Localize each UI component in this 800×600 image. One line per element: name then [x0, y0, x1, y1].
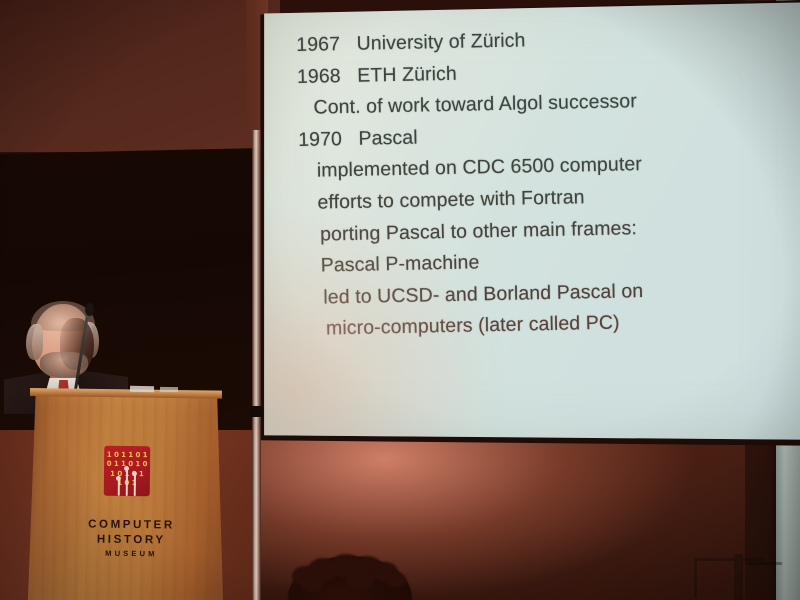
chm-logo-circuit-trace-1 [117, 478, 120, 496]
chm-wordmark: COMPUTER HISTORY MUSEUM [72, 517, 189, 560]
slide-text-block: 1967 University of Zürich 1968 ETH Züric… [296, 21, 742, 346]
chm-logo-bit-2-1: 0 [107, 461, 112, 468]
audience-hair-curl-6 [300, 574, 324, 592]
chm-logo-bit-3-1: 1 [110, 470, 115, 477]
audience-hair-curl-8 [386, 572, 406, 588]
audience-hair-curl-7 [346, 570, 374, 590]
pole-clamp [249, 406, 263, 417]
upper-wall [0, 0, 280, 152]
chm-logo-bit-3-5: 1 [139, 471, 144, 478]
furniture-bar-top [694, 558, 764, 561]
screen-support-pole [252, 130, 261, 600]
furniture-post [734, 554, 743, 600]
chm-logo-circuit-trace-2 [125, 468, 128, 496]
lecture-photo-scene: 1967 University of Zürich 1968 ETH Züric… [0, 0, 800, 600]
chm-logo-bit-1-6: 1 [143, 452, 148, 459]
podium-paper-sheet [130, 386, 154, 392]
chm-wordmark-line-2: HISTORY [72, 532, 188, 548]
chm-logo-mark-icon: 101101 011010 10101 101 [104, 446, 151, 496]
chm-logo-bit-1-1: 1 [107, 452, 112, 459]
background-furniture [690, 548, 786, 600]
podium-paper-sheet-2 [160, 387, 178, 392]
chm-logo-bit-2-2: 1 [114, 461, 119, 468]
chm-wordmark-line-3: MUSEUM [72, 546, 188, 560]
chm-logo-bit-row-1: 101101 [104, 452, 150, 459]
microphone-head [85, 303, 94, 316]
furniture-bar-left [694, 558, 697, 598]
chm-logo-bit-1-2: 0 [114, 452, 119, 459]
chm-wordmark-line-1: COMPUTER [72, 517, 188, 533]
chm-logo-bit-1-5: 0 [135, 452, 140, 459]
speaker-hair-left [26, 324, 43, 360]
chm-logo-circuit-trace-3 [133, 474, 136, 497]
chm-logo-bit-2-5: 1 [135, 461, 140, 468]
chm-logo-bit-1-4: 1 [128, 452, 133, 459]
chm-logo-bit-2-6: 0 [143, 461, 148, 468]
furniture-bar-right [746, 562, 782, 565]
chm-logo-bit-1-3: 1 [121, 452, 126, 459]
